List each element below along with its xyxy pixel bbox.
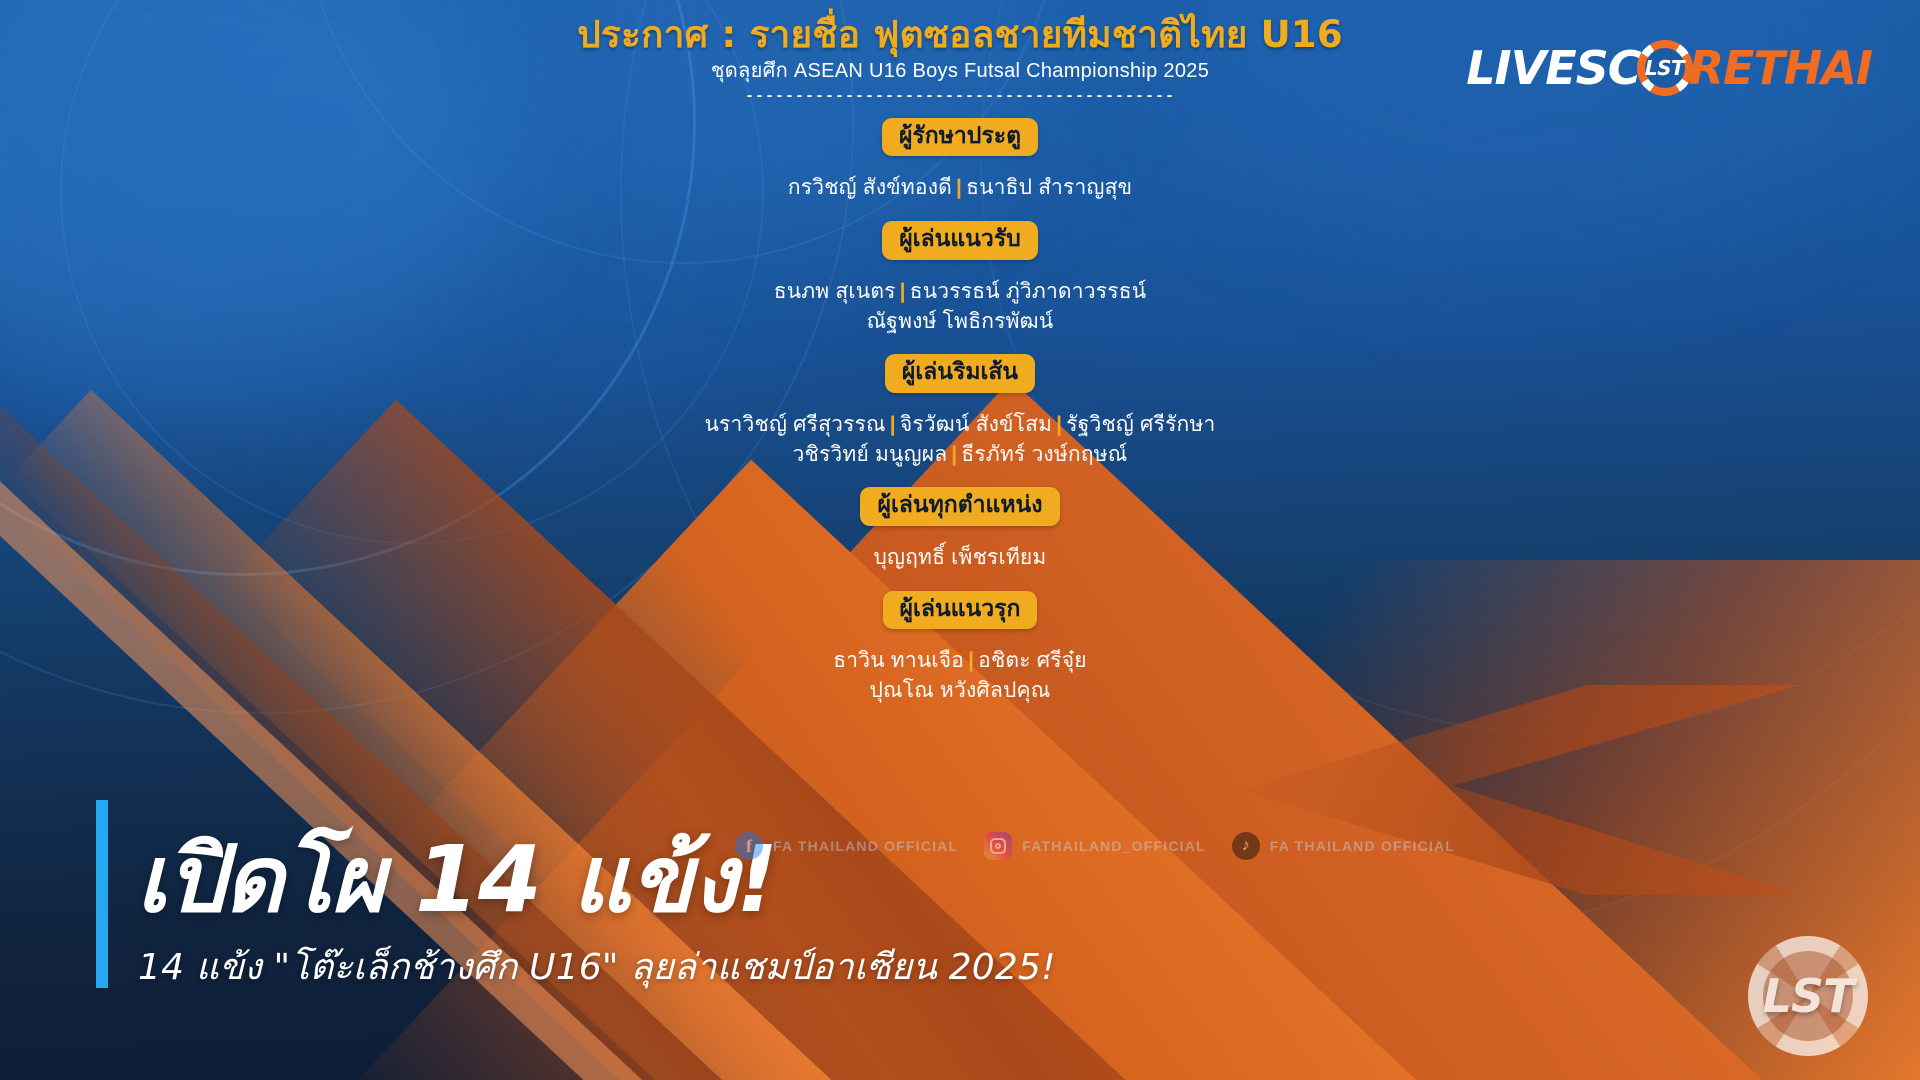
position-label: ผู้รักษาประตู — [882, 118, 1038, 156]
player-name: ธนภพ สุเนตร — [774, 280, 896, 303]
social-handle: FA THAILAND OFFICIAL — [1270, 838, 1455, 854]
social-item[interactable]: FA THAILAND OFFICIAL — [735, 832, 958, 860]
position-label: ผู้เล่นแนวรับ — [882, 221, 1038, 259]
player-name: ธนาธิป สำราญสุข — [966, 176, 1132, 199]
bottom-subheadline: 14 แข้ง "โต๊ะเล็กช้างศึก U16" ลุยล่าแชมป… — [138, 948, 1056, 988]
logo-text-rethai: RETHAI — [1689, 45, 1872, 91]
player-name: ณัฐพงษ์ โพธิกรพัฒน์ — [867, 310, 1054, 333]
logo-mark-text: LST — [1637, 40, 1693, 96]
position-label: ผู้เล่นริมเส้น — [885, 354, 1035, 392]
logo-text-live: LIVESC — [1466, 45, 1640, 91]
name-separator: | — [964, 649, 978, 672]
social-item[interactable]: FA THAILAND OFFICIAL — [1232, 832, 1455, 860]
roster-list: ผู้รักษาประตูกรวิชญ์ สังข์ทองดี|ธนาธิป ส… — [0, 118, 1920, 724]
lst-circle-icon: LST — [1637, 40, 1693, 96]
position-label: ผู้เล่นทุกตำแหน่ง — [860, 487, 1059, 525]
player-names: นราวิชญ์ ศรีสุวรรณ|จิรวัฒน์ สังข์โสม|รัฐ… — [0, 410, 1920, 470]
roster-section: ผู้เล่นริมเส้นนราวิชญ์ ศรีสุวรรณ|จิรวัฒน… — [0, 354, 1920, 469]
roster-section: ผู้เล่นแนวรับธนภพ สุเนตร|ธนวรรธน์ ภู่วิภ… — [0, 221, 1920, 336]
name-separator: | — [1052, 413, 1066, 436]
roster-section: ผู้เล่นแนวรุกธาวิน ทานเจือ|อชิตะ ศรีจุ๋ย… — [0, 591, 1920, 706]
player-name-row: วชิรวิทย์ มนูญผล|ธีรภัทร์ วงษ์กฤษณ์ — [0, 440, 1920, 470]
player-name: ธนวรรธน์ ภู่วิภาดาวรรธน์ — [910, 280, 1147, 303]
player-name-row: กรวิชญ์ สังข์ทองดี|ธนาธิป สำราญสุข — [0, 173, 1920, 203]
player-names: บุญฤทธิ์ เพ็ชรเทียม — [0, 543, 1920, 573]
player-name: ธาวิน ทานเจือ — [833, 649, 964, 672]
lst-watermark-text: LST — [1748, 936, 1868, 1056]
player-name-row: บุญฤทธิ์ เพ็ชรเทียม — [0, 543, 1920, 573]
lst-watermark-badge: LST — [1748, 936, 1868, 1056]
instagram-icon — [984, 832, 1012, 860]
livescorethai-logo[interactable]: LIVESC LST RETHAI — [1466, 40, 1872, 96]
social-item[interactable]: FATHAILAND_OFFICIAL — [984, 832, 1206, 860]
roster-section: ผู้รักษาประตูกรวิชญ์ สังข์ทองดี|ธนาธิป ส… — [0, 118, 1920, 203]
player-name: นราวิชญ์ ศรีสุวรรณ — [704, 413, 885, 436]
player-names: ธนภพ สุเนตร|ธนวรรธน์ ภู่วิภาดาวรรธน์ณัฐพ… — [0, 277, 1920, 337]
social-watermark-row: FA THAILAND OFFICIALFATHAILAND_OFFICIALF… — [735, 832, 1455, 860]
player-name-row: ธนภพ สุเนตร|ธนวรรธน์ ภู่วิภาดาวรรธน์ — [0, 277, 1920, 307]
player-name-row: ณัฐพงษ์ โพธิกรพัฒน์ — [0, 307, 1920, 337]
social-handle: FA THAILAND OFFICIAL — [773, 838, 958, 854]
name-separator: | — [886, 413, 900, 436]
tiktok-icon — [1232, 832, 1260, 860]
player-name: ธีรภัทร์ วงษ์กฤษณ์ — [961, 443, 1127, 466]
player-name-row: ธาวิน ทานเจือ|อชิตะ ศรีจุ๋ย — [0, 646, 1920, 676]
position-label: ผู้เล่นแนวรุก — [883, 591, 1038, 629]
player-name: วชิรวิทย์ มนูญผล — [793, 443, 948, 466]
player-names: ธาวิน ทานเจือ|อชิตะ ศรีจุ๋ยปุณโณ หวังศิล… — [0, 646, 1920, 706]
accent-bar — [96, 800, 108, 988]
player-name: อชิตะ ศรีจุ๋ย — [978, 649, 1087, 672]
player-name: บุญฤทธิ์ เพ็ชรเทียม — [874, 546, 1047, 569]
player-name: จิรวัฒน์ สังข์โสม — [900, 413, 1052, 436]
name-separator: | — [947, 443, 961, 466]
player-name-row: นราวิชญ์ ศรีสุวรรณ|จิรวัฒน์ สังข์โสม|รัฐ… — [0, 410, 1920, 440]
player-names: กรวิชญ์ สังข์ทองดี|ธนาธิป สำราญสุข — [0, 173, 1920, 203]
poster-canvas: ประกาศ : รายชื่อ ฟุตซอลชายทีมชาติไทย U16… — [0, 0, 1920, 1080]
player-name-row: ปุณโณ หวังศิลปคุณ — [0, 676, 1920, 706]
name-separator: | — [952, 176, 966, 199]
player-name: กรวิชญ์ สังข์ทองดี — [788, 176, 952, 199]
social-handle: FATHAILAND_OFFICIAL — [1022, 838, 1206, 854]
roster-section: ผู้เล่นทุกตำแหน่งบุญฤทธิ์ เพ็ชรเทียม — [0, 487, 1920, 572]
facebook-icon — [735, 832, 763, 860]
player-name: ปุณโณ หวังศิลปคุณ — [870, 679, 1051, 702]
name-separator: | — [896, 280, 910, 303]
player-name: รัฐวิชญ์ ศรีรักษา — [1066, 413, 1215, 436]
